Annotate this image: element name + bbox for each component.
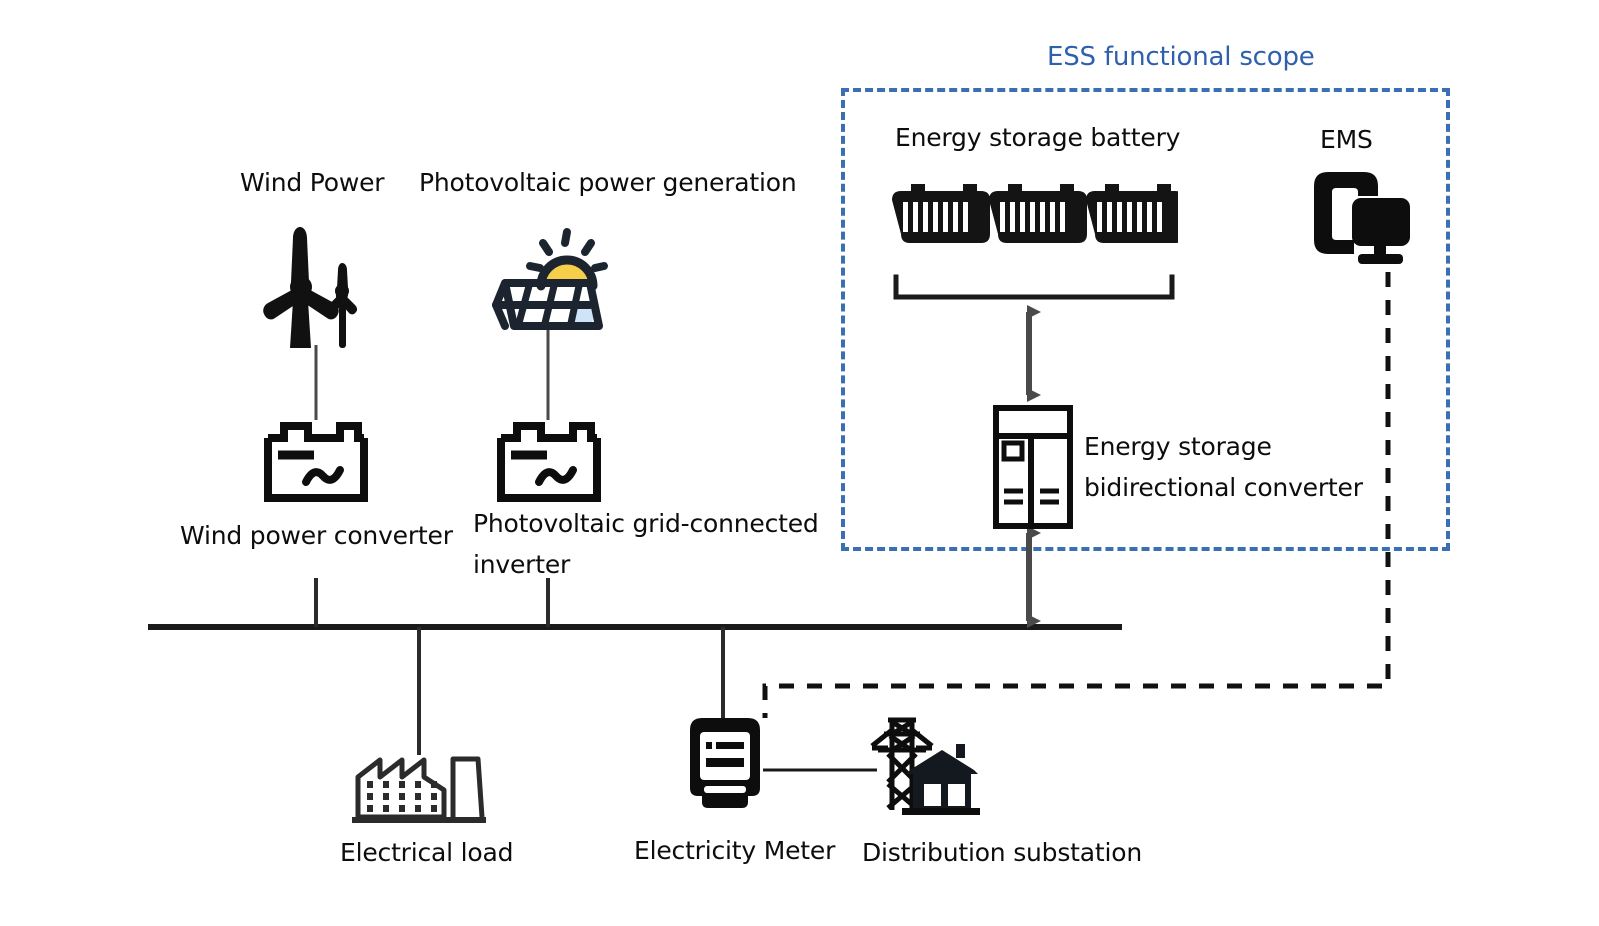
pv-inverter-label-line2: inverter — [473, 545, 570, 585]
energy-storage-battery-label: Energy storage battery — [895, 118, 1180, 158]
ems-computer-icon — [1310, 168, 1412, 266]
power-converter-icon-pv — [495, 420, 603, 504]
pylon-house-icon — [858, 708, 984, 818]
electricity-meter-icon — [686, 716, 764, 812]
pv-inverter-label-line1: Photovoltaic grid-connected — [473, 504, 819, 544]
factory-icon — [352, 750, 486, 825]
electrical-load-label: Electrical load — [340, 833, 513, 873]
photovoltaic-power-generation-label: Photovoltaic power generation — [419, 163, 797, 203]
ess-scope-title: ESS functional scope — [1047, 37, 1315, 77]
wind-turbine-icon — [252, 225, 380, 350]
wind-power-converter-label: Wind power converter — [180, 516, 453, 556]
ems-label: EMS — [1320, 120, 1373, 160]
battery-cell-1 — [892, 184, 990, 243]
wind-power-label: Wind Power — [240, 163, 384, 203]
battery-cell-3 — [1086, 184, 1178, 243]
electricity-meter-label: Electricity Meter — [634, 831, 835, 871]
battery-cell-2 — [989, 184, 1087, 243]
converter-label-line2: bidirectional converter — [1084, 468, 1363, 508]
power-converter-icon-wind — [262, 420, 370, 504]
converter-label-line1: Energy storage — [1084, 427, 1272, 467]
distribution-substation-label: Distribution substation — [862, 833, 1142, 873]
solar-panel-icon — [483, 222, 615, 334]
diagram-canvas: ESS functional scope Energy storage batt… — [0, 0, 1599, 926]
bidirectional-converter-icon — [993, 405, 1073, 529]
energy-storage-battery-icons — [890, 178, 1178, 246]
